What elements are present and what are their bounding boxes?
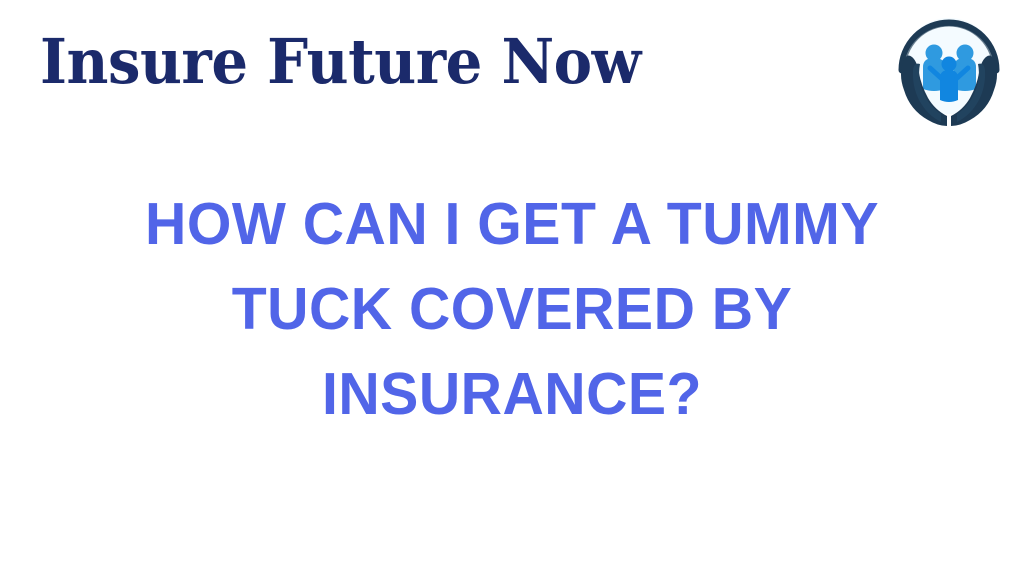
headline-block: HOW CAN I GET A TUMMY TUCK COVERED BY IN…: [0, 182, 1024, 437]
family-in-hands-logo: [890, 10, 1008, 126]
header-bar: Insure Future Now: [0, 0, 1024, 135]
headline-line-1: HOW CAN I GET A TUMMY: [15, 182, 1008, 267]
headline-line-3: INSURANCE?: [15, 352, 1008, 437]
headline-line-2: TUCK COVERED BY: [15, 267, 1008, 352]
page-canvas: Insure Future Now: [0, 0, 1024, 576]
brand-title: Insure Future Now: [40, 26, 641, 98]
